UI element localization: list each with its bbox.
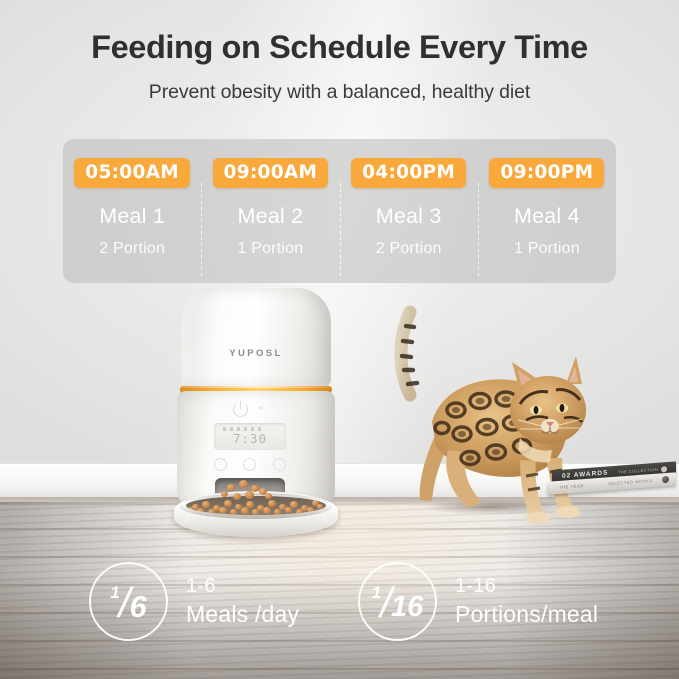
feature-text-portions: 1-16 Portions/meal xyxy=(455,575,598,628)
time-badge-meal-3: 04:00PM xyxy=(351,158,466,188)
power-icon xyxy=(233,402,248,417)
feature-range-portions: 1-16 xyxy=(455,575,598,598)
automatic-pet-feeder: YUPOSL 7:30 xyxy=(169,288,345,534)
book-bottom-left-text: THE YEAR xyxy=(559,483,584,490)
time-badge-meal-2: 09:00AM xyxy=(213,158,329,188)
feeder-button-left xyxy=(214,458,227,471)
falling-kibble xyxy=(239,480,248,488)
schedule-column-4: 09:00PM Meal 4 1 Portion xyxy=(478,139,616,283)
feature-range-meals: 1-6 xyxy=(186,575,299,598)
kibble-piece xyxy=(307,507,314,513)
kibble-piece xyxy=(317,504,323,509)
portion-label-2: 1 Portion xyxy=(237,240,303,258)
fraction-slash: / xyxy=(380,582,392,624)
kibble-piece xyxy=(263,507,271,514)
kibble-piece xyxy=(268,500,276,507)
accent-ring-highlight xyxy=(180,386,332,388)
cat-paw-right xyxy=(556,506,580,518)
falling-kibble xyxy=(265,493,272,499)
falling-kibble xyxy=(221,491,228,497)
book-bottom-dot xyxy=(662,476,669,484)
falling-kibble xyxy=(227,484,235,491)
brand-logo-text: YUPOSL xyxy=(181,348,331,359)
page-title: Feeding on Schedule Every Time xyxy=(0,29,679,66)
lcd-time-value: 7:30 xyxy=(214,431,286,446)
feeding-schedule-panel: 05:00AM Meal 1 2 Portion 09:00AM Meal 2 … xyxy=(63,139,616,283)
feeder-lcd-display: 7:30 xyxy=(214,423,286,450)
feeder-food-hopper xyxy=(181,288,331,388)
kibble-piece xyxy=(241,507,249,514)
cat-pupil-right xyxy=(560,404,565,412)
feeder-button-right xyxy=(273,458,286,471)
kibble-piece xyxy=(290,501,298,508)
fraction-one-sixth: 1 / 6 xyxy=(91,564,166,639)
stacked-books: 02 AWARDS THE COLLECTION THE YEAR SELECT… xyxy=(548,466,676,498)
schedule-column-1: 05:00AM Meal 1 2 Portion xyxy=(63,139,201,283)
feeder-control-buttons xyxy=(214,458,286,471)
falling-kibble xyxy=(245,491,254,499)
kibble-piece xyxy=(296,509,303,515)
time-badge-meal-4: 09:00PM xyxy=(489,158,604,188)
kibble-piece xyxy=(219,507,227,514)
kibble-piece xyxy=(202,501,210,508)
kibble-piece xyxy=(274,509,281,515)
portion-label-3: 2 Portion xyxy=(376,240,442,258)
book-bottom-right-text: SELECTED WORKS xyxy=(608,478,653,486)
time-badge-meal-1: 05:00AM xyxy=(74,158,190,188)
meal-label-4: Meal 4 xyxy=(514,204,580,229)
cat-head xyxy=(510,376,586,444)
meal-label-2: Meal 2 xyxy=(238,204,304,229)
feature-text-meals: 1-6 Meals /day xyxy=(186,575,299,628)
status-led-indicator xyxy=(259,406,263,410)
cat-pupil-left xyxy=(534,406,539,414)
feature-unit-portions: Portions/meal xyxy=(455,601,598,628)
product-scene: Feeding on Schedule Every Time Prevent o… xyxy=(0,0,679,679)
fraction-denominator: 6 xyxy=(129,591,146,622)
fraction-slash: / xyxy=(119,582,131,624)
book-top-dot xyxy=(661,466,667,472)
feeder-button-center xyxy=(243,458,256,471)
schedule-column-3: 04:00PM Meal 3 2 Portion xyxy=(340,139,478,283)
kibble-piece xyxy=(197,508,204,514)
meal-label-3: Meal 3 xyxy=(376,204,442,229)
bowl-kibble-area xyxy=(186,496,326,515)
kibble-piece xyxy=(285,507,292,513)
feature-portions-per-meal: 1 / 16 1-16 Portions/meal xyxy=(358,562,598,641)
fraction-one-sixteenth: 1 / 16 xyxy=(360,564,435,639)
kibble-piece xyxy=(224,500,232,507)
page-subtitle: Prevent obesity with a balanced, healthy… xyxy=(0,81,679,104)
fraction-circle-meals: 1 / 6 xyxy=(89,562,168,641)
feature-unit-meals: Meals /day xyxy=(186,601,299,628)
kibble-piece xyxy=(208,509,215,515)
fraction-denominator: 16 xyxy=(391,593,423,622)
falling-kibble xyxy=(233,493,241,500)
feature-meals-per-day: 1 / 6 1-6 Meals /day xyxy=(89,562,299,641)
schedule-column-2: 09:00AM Meal 2 1 Portion xyxy=(201,139,339,283)
kibble-piece xyxy=(188,507,194,512)
fraction-circle-portions: 1 / 16 xyxy=(358,562,437,641)
portion-label-1: 2 Portion xyxy=(99,240,165,258)
kibble-piece xyxy=(252,509,259,515)
cat-paw-left xyxy=(526,512,550,524)
meal-label-1: Meal 1 xyxy=(99,204,165,229)
portion-label-4: 1 Portion xyxy=(514,240,580,258)
kibble-piece xyxy=(230,509,237,515)
